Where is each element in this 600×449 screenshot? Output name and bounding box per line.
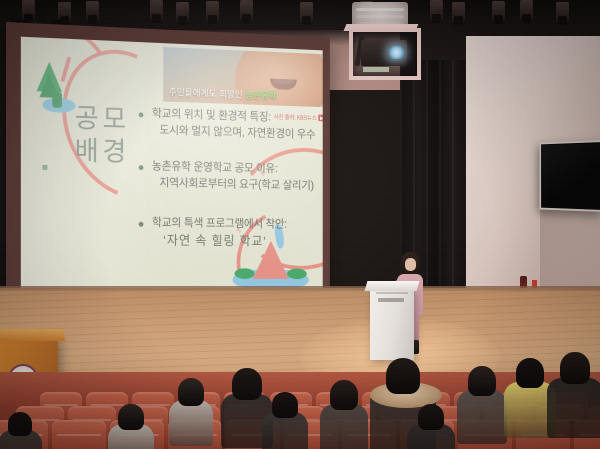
stage-light-icon: [452, 2, 465, 24]
lectern-top: [0, 329, 65, 341]
news-thumbnail: 주민들에게도 희망인 농촌유학: [163, 47, 323, 107]
audience-person-head: [232, 368, 262, 400]
audience-person-head: [560, 352, 590, 384]
bush-icon: [287, 269, 307, 280]
stage-light-icon: [206, 1, 219, 23]
audience-person-body: [169, 400, 213, 446]
audience-person-body: [320, 404, 368, 449]
stage-light-icon: [300, 2, 313, 24]
bullet-item: 학교의 위치 및 환경적 특징:사진 출처: KBS뉴스 도시와 멀지 않으며,…: [139, 107, 323, 144]
seat-highlight: [57, 434, 100, 436]
projector-label: [363, 67, 389, 72]
stage-light-icon: [176, 2, 189, 24]
bush-icon: [235, 268, 255, 279]
bullet-dot-icon: [139, 222, 144, 227]
stage-edge: [0, 286, 600, 291]
audience-person-body: [457, 390, 507, 444]
bullet-1-text: 학교의 위치 및 환경적 특징:: [152, 108, 271, 123]
stage-light-icon: [86, 1, 99, 23]
audience-person-head: [386, 358, 420, 394]
wall-mounted-tv: [540, 140, 600, 212]
stage-light-icon: [520, 0, 533, 22]
audience-person-head: [178, 378, 204, 406]
tree-bottom-icon: [40, 73, 60, 98]
stage-light-icon: [430, 0, 443, 22]
stage-light-icon: [150, 0, 163, 22]
podium-nameplate: [378, 298, 404, 302]
bullet-item: 학교의 특색 프로그램에서 착안: ‘자연 속 힐링 학교’: [139, 216, 323, 251]
audience-person-head: [8, 412, 32, 436]
bullet-line-2: 지역사회로부터의 요구(학교 살리기): [159, 175, 322, 195]
bullet-dot-icon: [139, 165, 144, 170]
bullet-item: 농촌유학 운영학교 공모 이유: 지역사회로부터의 요구(학교 살리기): [139, 159, 323, 194]
tv-screen: [542, 143, 600, 209]
news-caption-plain: 주민들에게도 희망인: [169, 87, 245, 99]
projector-lens: [389, 46, 404, 59]
projector-body: [361, 40, 407, 66]
pine-tree-icon: [37, 61, 62, 104]
presenter-face: [405, 258, 416, 271]
slide-bullet-list: 학교의 위치 및 환경적 특징:사진 출처: KBS뉴스 도시와 멀지 않으며,…: [139, 107, 323, 267]
presentation-slide: ᵞᵞᵧ ᵞᵞᵧ 공모 배경 주민들에게도 희망인 농촌유학: [21, 37, 323, 298]
play-icon: [318, 114, 323, 121]
stage-podium: [370, 288, 414, 360]
map-dot-icon: [42, 165, 47, 170]
podium-trim: [376, 292, 408, 294]
audience-person-head: [468, 366, 496, 396]
auditorium-photo: ᵞᵞᵧ ᵞᵞᵧ 공모 배경 주민들에게도 희망인 농촌유학: [0, 0, 600, 449]
news-caption-highlight: 농촌유학: [245, 90, 276, 101]
source-note: 사진 출처: KBS뉴스: [274, 115, 317, 122]
stage-light-icon: [22, 0, 35, 22]
audience-person-body: [547, 378, 600, 438]
stage-light-icon: [492, 1, 505, 23]
stage-light-icon: [240, 0, 253, 22]
ceiling-projector: [349, 28, 421, 80]
audience-person-head: [516, 358, 544, 388]
audience-person-head: [418, 404, 444, 430]
projection-screen-frame: ᵞᵞᵧ ᵞᵞᵧ 공모 배경 주민들에게도 희망인 농촌유학: [6, 22, 330, 310]
theater-seat: [52, 420, 106, 449]
bullet-line-2: ‘자연 속 힐링 학교’: [163, 232, 323, 252]
audience-person-head: [118, 404, 144, 430]
podium-top: [365, 281, 420, 291]
audience-person-head: [272, 392, 298, 418]
stage-light-icon: [556, 2, 569, 24]
audience-person-head: [330, 380, 358, 410]
bullet-dot-icon: [139, 112, 144, 117]
